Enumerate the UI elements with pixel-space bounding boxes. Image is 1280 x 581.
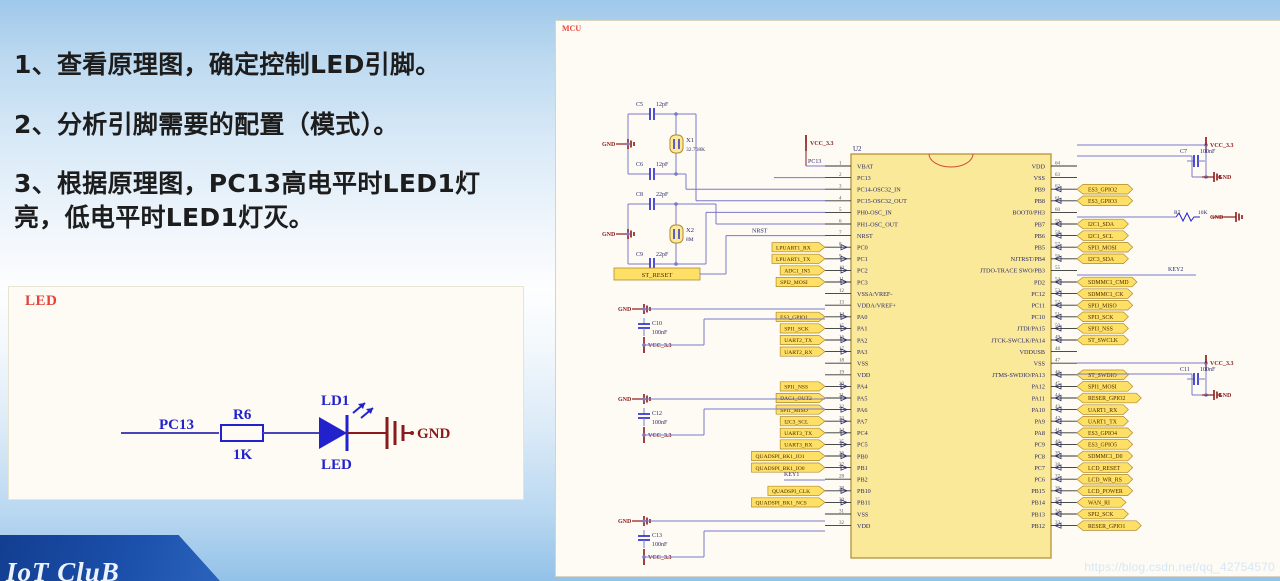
net-label-right: ES3_GPIO4: [1088, 431, 1117, 437]
pin-name-right: BOOT0/PH3: [1012, 210, 1045, 217]
pin-name-right: JTCK-SWCLK/PA14: [991, 337, 1045, 344]
pin-name-left: NRST: [857, 233, 873, 240]
pin-name-right: PB8: [1034, 198, 1045, 205]
net-label-left: I2C3_SCL: [784, 419, 809, 425]
resistor-value: 10K: [1198, 210, 1208, 216]
led-schematic-panel: LED PC13 R6 1K: [8, 286, 524, 500]
gnd-label: GND: [1218, 393, 1232, 399]
gnd-label: GND: [602, 232, 616, 238]
led-net-in-label: PC13: [159, 417, 194, 433]
pc13-net-label: PC13: [808, 159, 821, 165]
pin-name-right: PB15: [1031, 488, 1045, 495]
net-label-left: QUADSPI_BK1_IO0: [756, 466, 805, 472]
reset-label: ST_RESET: [642, 272, 673, 279]
crystal-body: [670, 135, 683, 153]
net-label-right: SDMMC1_CK: [1088, 292, 1124, 298]
net-label-right: ES3_GPIO2: [1088, 187, 1117, 193]
pin-name-right: PB6: [1034, 233, 1045, 240]
mcu-panel-title: MCU: [562, 24, 581, 33]
cap-ref: C10: [652, 321, 662, 327]
net-label-left: ADC1_IN5: [784, 269, 810, 275]
pin-name-right: PB14: [1031, 500, 1045, 507]
pin-name-left: PB10: [857, 488, 871, 495]
vcc-label: VCC_3.3: [810, 141, 834, 147]
net-label-right: RESER_GPIO1: [1088, 524, 1125, 530]
net-label-right: SPI3_SCK: [1088, 315, 1114, 321]
pin-name-left: PC4: [857, 430, 868, 437]
cap-value: 22pF: [656, 192, 669, 198]
gnd-label: GND: [618, 397, 632, 403]
pin-name-right: PB12: [1031, 523, 1045, 530]
pin-name-right: PC8: [1034, 453, 1045, 460]
key2-net-label: KEY2: [1168, 267, 1183, 273]
led-value-label: LED: [321, 457, 352, 473]
net-label-left: UART2_RX: [784, 350, 812, 356]
gnd-label: GND: [1210, 215, 1224, 221]
pin-name-left: PC1: [857, 256, 868, 263]
cap-ref: C8: [636, 192, 643, 198]
pin-name-left: PB0: [857, 453, 868, 460]
net-label-right: SDMMC1_CMD: [1088, 280, 1129, 286]
pin-name-right: JTMS-SWDIO/PA13: [992, 372, 1045, 379]
cap-value: 100nF: [652, 330, 668, 336]
pin-name-right: PC10: [1031, 314, 1045, 321]
net-label-left: QUADSPI_BK1_IO1: [756, 454, 805, 460]
pin-name-left: VDDA/VREF+: [857, 303, 896, 310]
slide-root: 1、查看原理图，确定控制LED引脚。 2、分析引脚需要的配置（模式）。 3、根据…: [0, 0, 1280, 581]
pin-name-left: PC3: [857, 279, 868, 286]
bullet-list: 1、查看原理图，确定控制LED引脚。 2、分析引脚需要的配置（模式）。 3、根据…: [14, 48, 524, 234]
net-label-right: UART1_RX: [1088, 408, 1118, 414]
chip-ref-label: U2: [853, 145, 862, 153]
pin-name-left: VSS: [857, 361, 869, 368]
pin-name-left: PB11: [857, 500, 871, 507]
cap-value: 12pF: [656, 102, 669, 108]
net-label-left: LPUART1_RX: [776, 245, 811, 251]
net-label-left: LPUART1_TX: [776, 257, 810, 263]
cap-value: 100nF: [1200, 367, 1216, 373]
cap-value: 100nF: [1200, 149, 1216, 155]
net-label-right: SPI3_MOSI: [1088, 245, 1117, 251]
net-label-right: SPI3_MISO: [1088, 303, 1117, 309]
pin-name-right: PD2: [1034, 279, 1045, 286]
net-label-right: WAN_RI: [1088, 501, 1110, 507]
pin-name-right: NJTRST/PB4: [1011, 256, 1045, 263]
junction-dot: [626, 232, 630, 236]
pin-name-left: PC13: [857, 175, 871, 182]
crystal-value: 8M: [686, 237, 694, 243]
pin-name-left: VSS: [857, 511, 869, 518]
net-label-left: UART2_TX: [784, 338, 812, 344]
pin-name-left: PA1: [857, 326, 867, 333]
net-label-left: UART3_TX: [784, 431, 812, 437]
pin-name-left: PH0-OSC_IN: [857, 210, 892, 217]
net-label-left: QUADSPI_CLK: [772, 489, 810, 495]
pin-name-left: PA2: [857, 337, 867, 344]
pin-name-right: PB7: [1034, 221, 1045, 228]
net-label-left: QUADSPI_BK1_NCS: [756, 501, 807, 507]
pin-name-left: VDD: [857, 523, 871, 530]
net-label-left: ES3_GPIO1: [780, 315, 808, 321]
crystal-ref: X1: [686, 137, 694, 144]
net-label-right: SPI3_NSS: [1088, 327, 1113, 333]
net-label-right: ES3_GPIO3: [1088, 199, 1117, 205]
crystal-ref: X2: [686, 227, 694, 234]
crystal-body: [670, 225, 683, 243]
pin-name-right: VDD: [1032, 163, 1046, 170]
pin-name-right: JTDI/PA15: [1017, 326, 1045, 333]
pin-name-left: PA3: [857, 349, 867, 356]
pin-name-left: VDD: [857, 372, 871, 379]
cap-value: 100nF: [652, 420, 668, 426]
bullet-item-3: 3、根据原理图，PC13高电平时LED1灯亮，低电平时LED1灯灭。: [14, 167, 524, 234]
gnd-label: GND: [1218, 175, 1232, 181]
pin-name-left: PA4: [857, 384, 867, 391]
pin-name-right: PB9: [1034, 187, 1045, 194]
led-circuit-svg: PC13 R6 1K LD1 LED GND: [9, 287, 523, 499]
junction-dot: [626, 142, 630, 146]
pin-name-left: PH1-OSC_OUT: [857, 221, 898, 228]
pin-name-left: PC15-OSC32_OUT: [857, 198, 907, 205]
bullet-item-1: 1、查看原理图，确定控制LED引脚。: [14, 48, 524, 82]
net-label-right: SDMMC1_D0: [1088, 454, 1123, 460]
vcc-label: VCC_3.3: [648, 433, 672, 439]
pin-name-left: PC5: [857, 442, 868, 449]
pin-name-left: PB2: [857, 477, 868, 484]
net-label-right: LCD_RESET: [1088, 466, 1121, 472]
pin-name-left: PA6: [857, 407, 867, 414]
cap-ref: C9: [636, 252, 643, 258]
pin-name-left: PC14-OSC32_IN: [857, 187, 901, 194]
net-label-right: LCD_POWER: [1088, 489, 1123, 495]
pin-name-right: PB13: [1031, 511, 1045, 518]
footer-banner: IoT CluB: [0, 535, 250, 581]
watermark-text: https://blog.csdn.net/qq_42754570: [1084, 560, 1275, 574]
cap-ref: C13: [652, 533, 662, 539]
led-gnd-label: GND: [417, 426, 451, 442]
pin-name-left: VBAT: [857, 163, 873, 170]
cap-ref: C5: [636, 102, 643, 108]
resistor-ref-label: R6: [233, 407, 252, 423]
pin-name-right: PA8: [1035, 430, 1045, 437]
net-label-right: UART1_TX: [1088, 419, 1118, 425]
net-label-right: RESER_GPIO2: [1088, 396, 1125, 402]
gnd-label: GND: [602, 142, 616, 148]
pin-name-right: JTDO-TRACE SWO/PB3: [980, 268, 1045, 275]
pin-name-right: PA10: [1031, 407, 1045, 414]
resistor-zigzag: [1176, 213, 1200, 221]
nrst-net-label: NRST: [752, 229, 768, 235]
pin-name-right: PA9: [1035, 419, 1045, 426]
pin-name-left: PB1: [857, 465, 868, 472]
net-label-right: SPI2_SCK: [1088, 512, 1114, 518]
mcu-schematic-panel: MCU C512pFC612pFX132.768KGNDC822pFC922pF…: [555, 20, 1280, 577]
net-label-right: I2C1_SDA: [1088, 222, 1115, 228]
mcu-schematic-svg: C512pFC612pFX132.768KGNDC822pFC922pFX28M…: [556, 21, 1280, 576]
pin-name-left: PA0: [857, 314, 867, 321]
pin-name-right: VSS: [1034, 175, 1046, 182]
pin-name-left: PC2: [857, 268, 868, 275]
pin-name-right: PA11: [1032, 395, 1045, 402]
cap-value: 100nF: [652, 542, 668, 548]
pin-name-right: PA12: [1031, 384, 1045, 391]
pin-name-right: PC12: [1031, 291, 1045, 298]
pin-name-right: PC11: [1031, 303, 1045, 310]
net-label-right: SPI1_MOSI: [1088, 385, 1117, 391]
pin-name-right: PC7: [1034, 465, 1045, 472]
gnd-label: GND: [618, 307, 632, 313]
net-label-right: I2C1_SCL: [1088, 234, 1114, 240]
cap-ref: C11: [1180, 367, 1190, 373]
pin-name-left: VSSA/VREF-: [857, 291, 892, 298]
net-label-right: ES3_GPIO5: [1088, 443, 1117, 449]
led-ref-label: LD1: [321, 393, 349, 409]
cap-ref: C6: [636, 162, 643, 168]
net-label-right: I2C3_SDA: [1088, 257, 1115, 263]
pin-name-left: PA7: [857, 419, 867, 426]
cap-ref: C7: [1180, 149, 1187, 155]
pin-name-right: PC6: [1034, 477, 1045, 484]
cap-ref: C12: [652, 411, 662, 417]
net-label-left: SPI1_NSS: [784, 385, 808, 391]
resistor-value-label: 1K: [233, 447, 253, 463]
net-label-right: ST_SWCLK: [1088, 338, 1119, 344]
net-label-left: SPI1_SCK: [784, 327, 809, 333]
cap-value: 22pF: [656, 252, 669, 258]
cap-value: 12pF: [656, 162, 669, 168]
gnd-label: GND: [618, 519, 632, 525]
pin-name-right: PB5: [1034, 245, 1045, 252]
vcc-label: VCC_3.3: [648, 343, 672, 349]
net-label-left: SPI2_MOSI: [780, 280, 808, 286]
net-label-right: LCD_WR_RS: [1088, 477, 1122, 483]
vcc-label: VCC_3.3: [648, 555, 672, 561]
pin-name-left: PC0: [857, 245, 868, 252]
banner-label: IoT CluB: [6, 557, 120, 581]
pin-name-left: PA5: [857, 395, 867, 402]
pin-name-right: PC9: [1034, 442, 1045, 449]
key1-net-label: KEY1: [784, 472, 799, 478]
pin-name-right: VSS: [1034, 361, 1046, 368]
bullet-item-2: 2、分析引脚需要的配置（模式）。: [14, 108, 524, 142]
net-label-left: UART3_RX: [784, 443, 812, 449]
pin-name-right: VDDUSB: [1020, 349, 1045, 356]
